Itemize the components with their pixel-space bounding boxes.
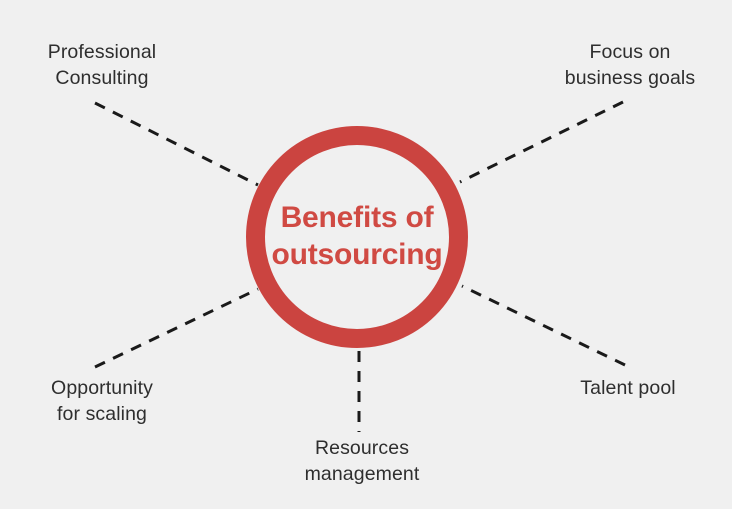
connector-professional-consulting [95,103,258,185]
node-label-opportunity-scaling: Opportunity for scaling [18,376,186,427]
connector-focus-business-goals [460,102,623,182]
node-label-resources-management: Resources management [274,436,450,487]
node-label-professional-consulting: Professional Consulting [18,40,186,91]
hub-circle: Benefits of outsourcing [246,126,468,348]
hub-title: Benefits of outsourcing [271,200,442,273]
diagram-canvas: Benefits of outsourcing Professional Con… [0,0,732,509]
node-label-focus-business-goals: Focus on business goals [542,40,718,91]
connector-talent-pool [462,286,625,365]
node-label-talent-pool: Talent pool [540,376,716,402]
connector-opportunity-scaling [95,289,258,367]
